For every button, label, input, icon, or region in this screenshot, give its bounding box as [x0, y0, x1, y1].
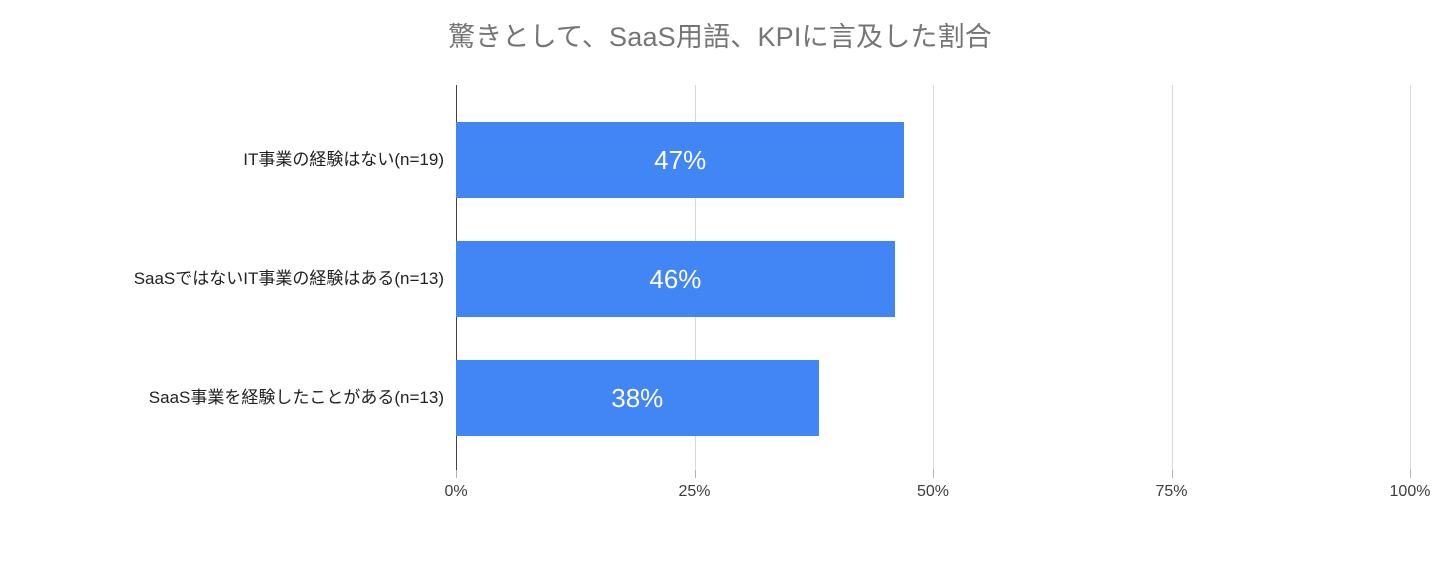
- bar[interactable]: 47%: [456, 122, 904, 198]
- gridline-50: [933, 85, 934, 478]
- x-tick-mark: [933, 470, 934, 478]
- bar-chart: 驚きとして、SaaS用語、KPIに言及した割合 47%46%38% IT事業の経…: [0, 0, 1440, 582]
- x-tick-mark: [695, 470, 696, 478]
- bar[interactable]: 38%: [456, 360, 819, 436]
- category-label: IT事業の経験はない(n=19): [0, 149, 444, 171]
- x-tick-label: 75%: [1112, 482, 1232, 502]
- gridline-75: [1172, 85, 1173, 478]
- x-tick-mark: [1410, 470, 1411, 478]
- x-tick-mark: [1172, 470, 1173, 478]
- x-tick-mark: [456, 470, 457, 478]
- category-label: SaaSではないIT事業の経験はある(n=13): [0, 268, 444, 290]
- bar-value-label: 38%: [456, 383, 819, 413]
- bar-value-label: 47%: [456, 145, 904, 175]
- x-tick-label: 50%: [873, 482, 993, 502]
- category-label: SaaS事業を経験したことがある(n=13): [0, 387, 444, 409]
- bar-value-label: 46%: [456, 264, 895, 294]
- x-tick-label: 25%: [635, 482, 755, 502]
- chart-title: 驚きとして、SaaS用語、KPIに言及した割合: [0, 20, 1440, 54]
- gridline-100: [1410, 85, 1411, 478]
- bar[interactable]: 46%: [456, 241, 895, 317]
- x-tick-label: 100%: [1350, 482, 1440, 502]
- x-tick-label: 0%: [396, 482, 516, 502]
